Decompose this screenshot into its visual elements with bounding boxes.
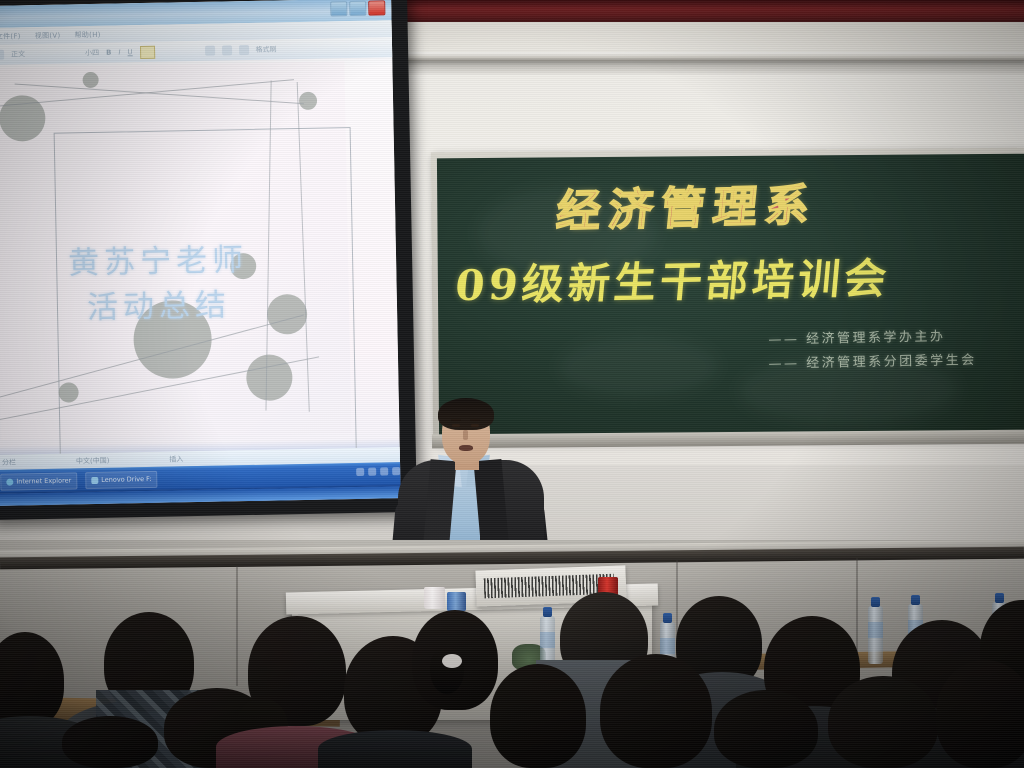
format-painter-button[interactable]: 格式刷 — [256, 44, 277, 54]
rail-shadow — [398, 61, 1024, 75]
taskbar-label-drive: Lenovo Drive F: — [101, 475, 151, 484]
shading-icon[interactable] — [239, 45, 249, 55]
blackboard-credit-1: —— 经济管理系学办主办 — [768, 325, 945, 347]
system-tray[interactable] — [356, 467, 400, 476]
taskbar-item-drive[interactable]: Lenovo Drive F: — [85, 470, 158, 488]
upper-wall-band — [402, 22, 1024, 56]
projection-screen: 文件(F) 视图(V) 帮助(H) 正文 小四 B I U — [0, 0, 417, 520]
audience-head — [600, 654, 712, 768]
slide-canvas: 黄苏宁老师 活动总结 — [0, 61, 351, 440]
minimize-icon[interactable] — [330, 1, 347, 16]
underline-button[interactable]: U — [127, 48, 132, 56]
taskbar-item-ie[interactable]: Internet Explorer — [0, 472, 77, 490]
audience-head — [490, 664, 586, 768]
speaker-eye-left — [452, 424, 460, 427]
blackboard-credit-2: —— 经济管理系分团委学生会 — [768, 349, 976, 372]
blackboard-subhead: 09级新生干部培训会 — [453, 245, 893, 313]
menu-item-help[interactable]: 帮助(H) — [74, 29, 100, 40]
hair-tie — [442, 654, 462, 668]
water-bottle — [868, 606, 883, 664]
speaker-brow-right — [470, 419, 480, 421]
volume-icon[interactable] — [356, 468, 364, 476]
decor-circle — [82, 72, 98, 88]
blackboard-surface: 经济管理系 09级新生干部培训会 —— 经济管理系学办主办 —— 经济管理系分团… — [437, 154, 1024, 437]
network-icon[interactable] — [380, 467, 388, 475]
audience-shoulders — [318, 730, 472, 768]
font-color-icon[interactable] — [205, 46, 215, 56]
ime-icon[interactable] — [368, 468, 376, 476]
speaker-eye-right — [471, 424, 479, 427]
status-language: 中文(中国) — [76, 455, 110, 466]
audience-head — [62, 716, 158, 768]
window-controls[interactable] — [330, 0, 385, 16]
blue-cup — [447, 592, 466, 611]
projection-surface: 文件(F) 视图(V) 帮助(H) 正文 小四 B I U — [0, 0, 401, 506]
slide-text-block: 黄苏宁老师 活动总结 — [28, 237, 290, 332]
bold-button[interactable]: B — [106, 49, 111, 57]
close-icon[interactable] — [368, 0, 385, 15]
style-selector[interactable]: 正文 — [11, 49, 25, 59]
screen-mount-rail — [398, 52, 1024, 61]
speaker-hair — [438, 398, 494, 430]
audience-head — [936, 660, 1024, 768]
white-cup — [424, 587, 445, 609]
maximize-icon[interactable] — [349, 1, 366, 16]
menu-item-view[interactable]: 视图(V) — [35, 30, 61, 40]
ie-icon — [6, 478, 13, 485]
menu-item-file[interactable]: 文件(F) — [0, 31, 21, 41]
speaker-brow-left — [451, 419, 461, 421]
chalk-smudge — [558, 336, 718, 397]
drive-icon — [91, 476, 98, 483]
speaker-mouth — [459, 445, 473, 451]
highlight-button[interactable] — [140, 45, 155, 58]
status-insert-mode: 插入 — [169, 454, 183, 464]
wall-seam — [236, 566, 238, 686]
decor-circle — [299, 92, 317, 110]
slide-line-1: 黄苏宁老师 — [28, 237, 289, 287]
blackboard-headline: 经济管理系 — [554, 169, 821, 240]
taskbar-label-ie: Internet Explorer — [16, 476, 71, 485]
font-size-selector[interactable]: 小四 — [85, 48, 99, 58]
style-icon[interactable] — [0, 50, 4, 60]
audience-head — [714, 690, 818, 768]
projected-application-window: 文件(F) 视图(V) 帮助(H) 正文 小四 B I U — [0, 0, 401, 506]
speaker-nose — [463, 430, 468, 440]
audience-head — [828, 676, 938, 768]
border-icon[interactable] — [222, 45, 232, 55]
classroom-photo-scene: 经济管理系 09级新生干部培训会 —— 经济管理系学办主办 —— 经济管理系分团… — [0, 0, 1024, 768]
italic-button[interactable]: I — [118, 48, 120, 56]
status-left: 分栏 — [2, 457, 16, 467]
slide-line-2: 活动总结 — [29, 282, 290, 332]
